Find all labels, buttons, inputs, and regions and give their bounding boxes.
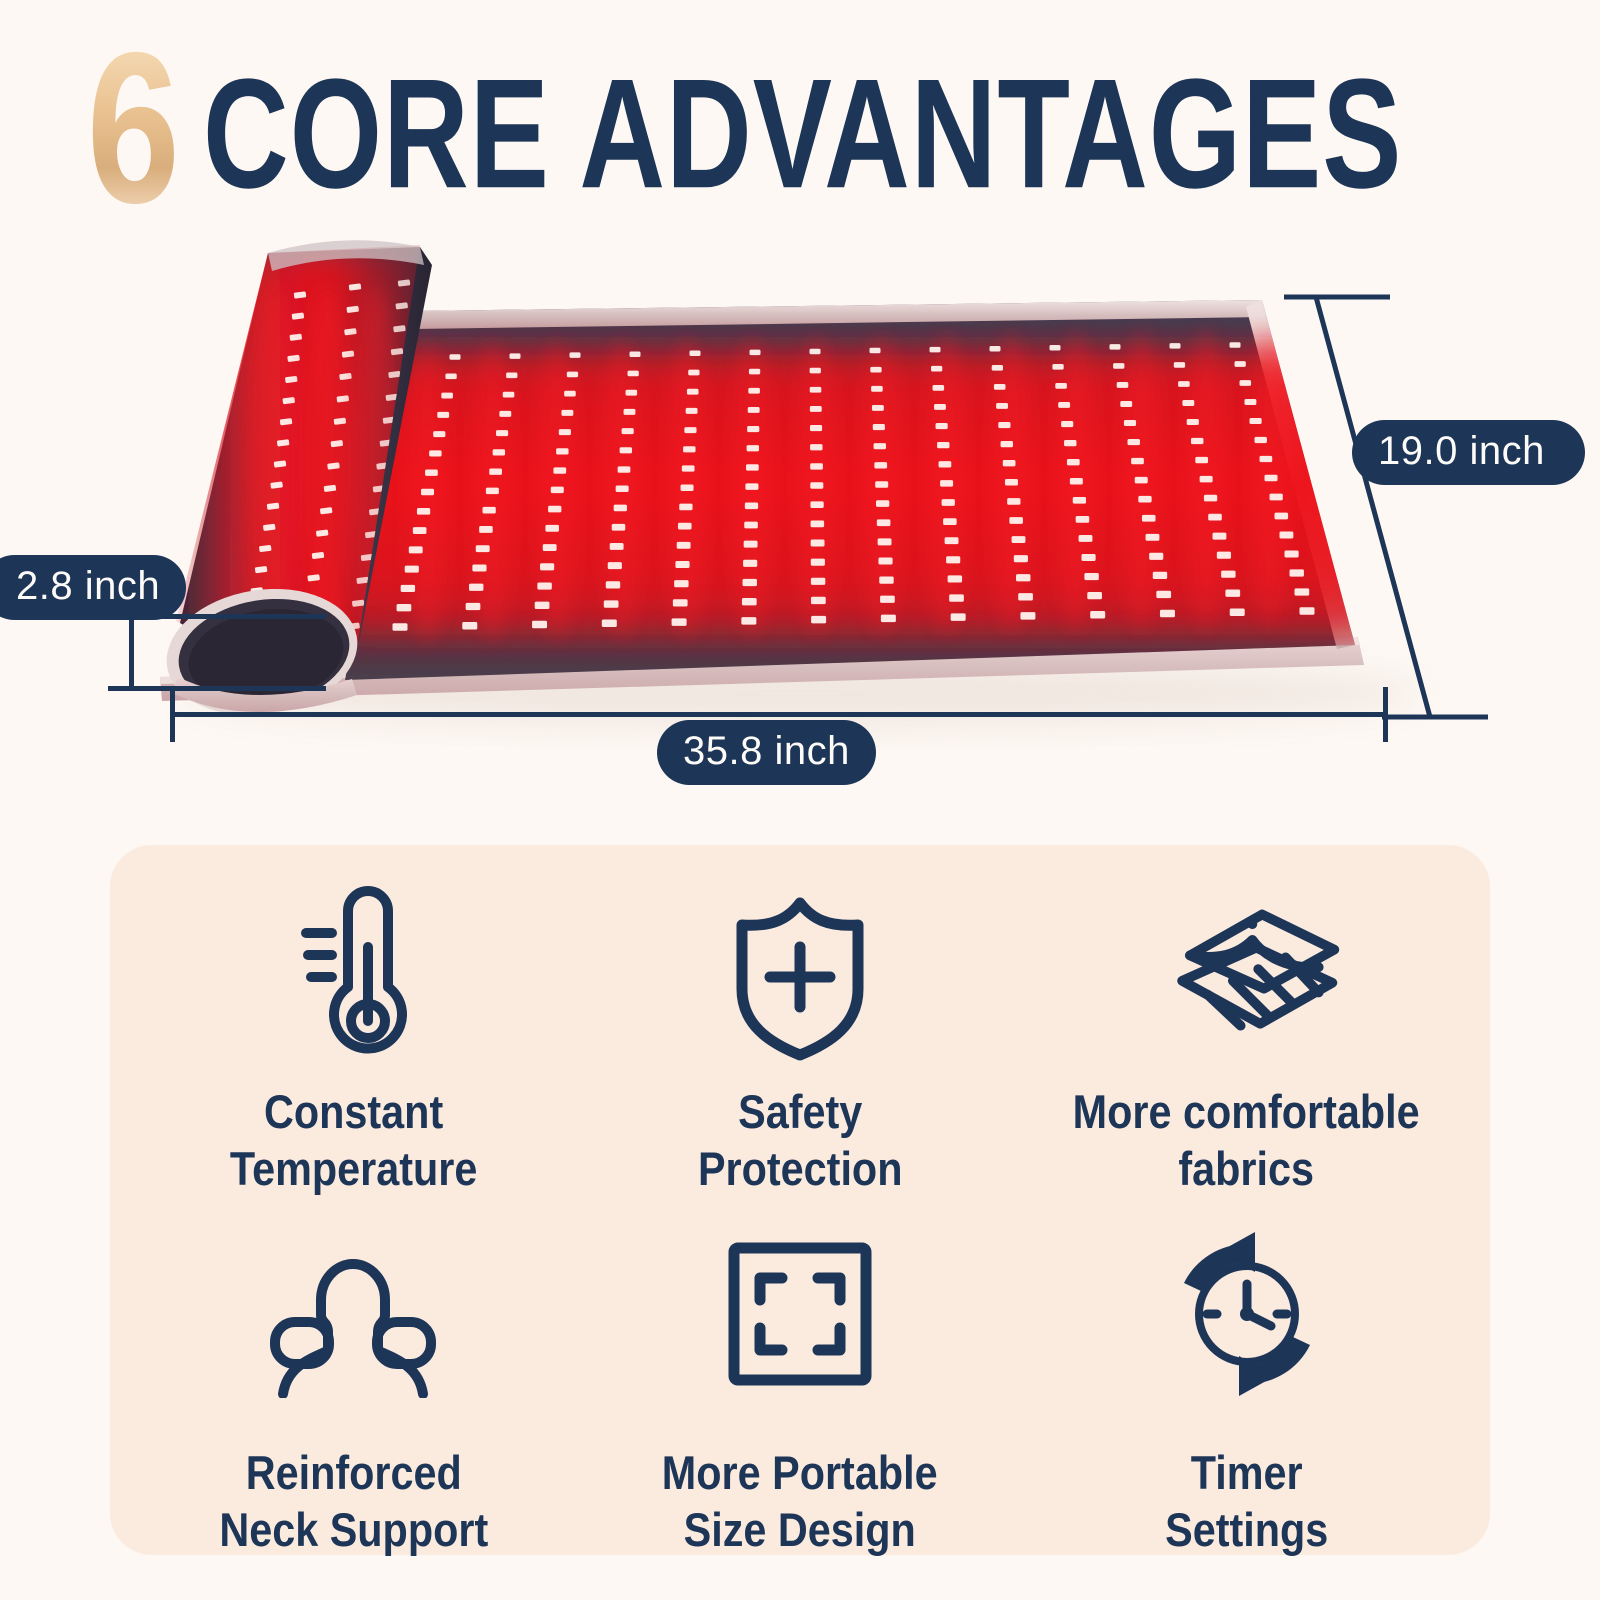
feature-item-safety-protection: Safety Protection — [577, 871, 1024, 1198]
timer-clock-icon — [1147, 1230, 1347, 1398]
feature-label: Reinforced Neck Support — [219, 1444, 488, 1559]
infographic-page: 6 CORE ADVANTAGES — [0, 0, 1600, 1600]
page-title-text: CORE ADVANTAGES — [203, 44, 1402, 222]
dimension-badge-thickness: 2.8 inch — [0, 555, 186, 620]
fabric-layers-icon — [1147, 885, 1347, 1061]
feature-label: Timer Settings — [1165, 1444, 1328, 1559]
feature-item-timer-settings: Timer Settings — [1023, 1198, 1470, 1559]
dimension-badge-width: 19.0 inch — [1352, 420, 1585, 485]
thermometer-icon — [253, 885, 453, 1061]
product-illustration: 2.8 inch 19.0 inch 35.8 inch — [0, 225, 1600, 815]
frame-size-icon — [700, 1230, 900, 1398]
feature-label: Constant Temperature — [230, 1083, 477, 1198]
feature-label: Safety Protection — [698, 1083, 903, 1198]
neck-support-icon — [253, 1230, 453, 1398]
shield-plus-icon — [700, 885, 900, 1061]
feature-item-portable-size: More Portable Size Design — [577, 1198, 1024, 1559]
thickness-dim-line — [129, 614, 134, 691]
features-panel: Constant Temperature Safety Protection — [110, 845, 1490, 1555]
feature-item-constant-temperature: Constant Temperature — [130, 871, 577, 1198]
length-dim-line — [170, 712, 1388, 717]
length-dim-cap-left — [170, 687, 175, 742]
feature-item-comfortable-fabrics: More comfortable fabrics — [1023, 871, 1470, 1198]
page-title: 6 CORE ADVANTAGES — [0, 18, 1600, 238]
width-dim-leader — [1270, 273, 1600, 773]
dimension-badge-length: 35.8 inch — [657, 720, 876, 785]
feature-item-neck-support: Reinforced Neck Support — [130, 1198, 577, 1559]
feature-label: More Portable Size Design — [662, 1444, 938, 1559]
thickness-dim-bottom-tick — [108, 686, 326, 691]
feature-label: More comfortable fabrics — [1073, 1083, 1420, 1198]
advantage-count: 6 — [79, 38, 185, 219]
